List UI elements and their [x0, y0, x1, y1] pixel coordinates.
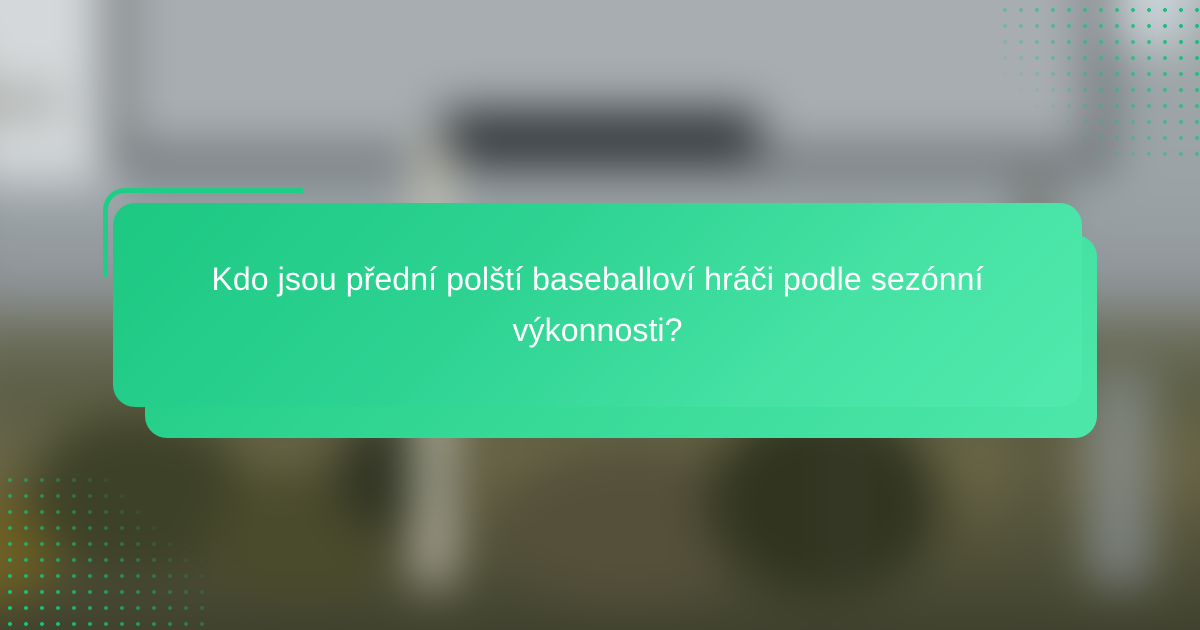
background-sky-left — [0, 0, 123, 183]
dot-grid-bottom-left-icon — [0, 470, 205, 630]
background-crossbar — [0, 96, 59, 111]
dot-grid-top-right-icon — [995, 0, 1200, 160]
share-card-canvas: Kdo jsou přední polští baseballoví hráči… — [0, 0, 1200, 630]
card-title: Kdo jsou přední polští baseballoví hráči… — [198, 254, 998, 356]
background-pole — [1088, 373, 1152, 585]
question-card: Kdo jsou přední polští baseballoví hráči… — [113, 203, 1082, 407]
background-crossbar — [0, 416, 59, 429]
background-scoreboard-panel — [441, 110, 759, 159]
